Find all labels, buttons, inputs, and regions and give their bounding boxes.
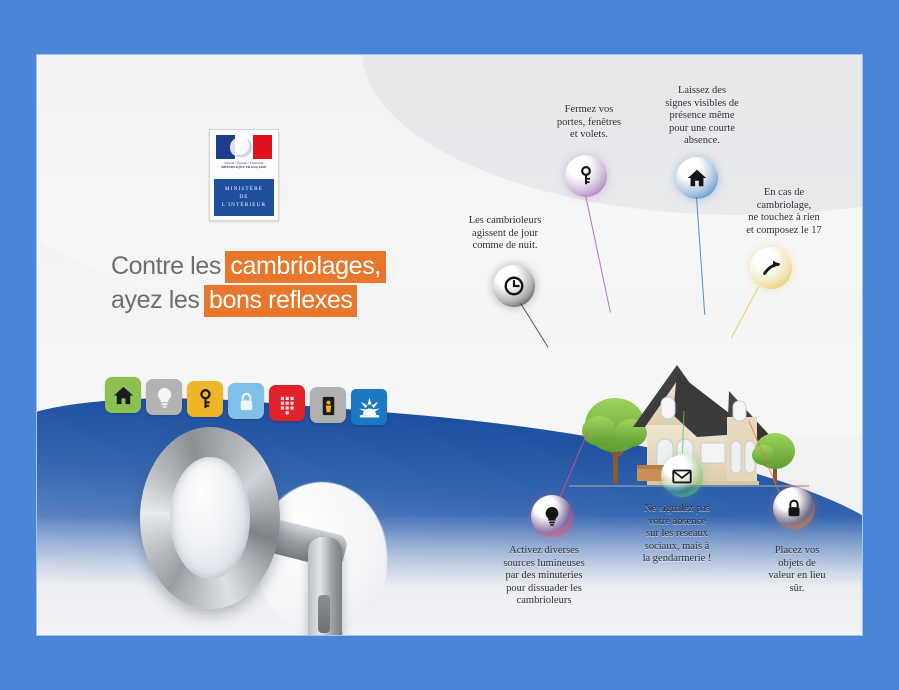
ministry-line-3: L'INTÉRIEUR <box>214 201 274 209</box>
padlock-icon <box>783 497 805 519</box>
callout-text-lock: Placez vosobjets devaleur en lieusûr. <box>727 545 862 595</box>
callout-text-phone: En cas decambriolage,ne touchez à rienet… <box>709 187 859 237</box>
key-photograph <box>132 427 382 635</box>
key-icon <box>575 165 597 187</box>
key-bow-ring <box>140 427 280 609</box>
callout-text-line: sources lumineuses <box>469 558 619 571</box>
padlock-tile <box>228 383 264 419</box>
callout-bubble-key[interactable] <box>565 155 607 197</box>
callout-text-line: Activez diverses <box>469 545 619 558</box>
callout-text-line: valeur en lieu <box>727 570 862 583</box>
callout-text-line: sûr. <box>727 583 862 596</box>
callout-text-line: présence même <box>627 110 777 123</box>
callout-bubble-lock[interactable] <box>773 487 815 529</box>
headline-line-2-highlight: bons reflexes <box>204 285 358 317</box>
keypad-tile <box>269 385 305 421</box>
security-icon-row <box>105 373 405 429</box>
callout-text-line: comme de nuit. <box>435 240 575 253</box>
callout-text-line: Les cambrioleurs <box>435 215 575 228</box>
callout-text-line: et composez le 17 <box>709 225 859 238</box>
callout-text-line: la gendarmerie ! <box>607 553 747 566</box>
ministry-line-1: MINISTÈRE <box>214 185 274 193</box>
keypad-icon <box>276 392 299 415</box>
headline-line-1-highlight: cambriolages, <box>225 251 385 283</box>
callout-bubble-clock[interactable] <box>493 265 535 307</box>
callout-text-line: ne touchez à rien <box>709 212 859 225</box>
callout-text-mail: Ne signalez pasvotre absencesur les rése… <box>607 503 747 566</box>
marianne-profile-icon <box>230 137 252 157</box>
sunrise-icon <box>358 396 381 419</box>
padlock-icon <box>235 390 258 413</box>
door-person-icon <box>317 394 340 417</box>
french-flag-icon <box>216 135 272 159</box>
ministry-logo: Liberté • Égalité • Fraternité RÉPUBLIQU… <box>209 129 279 221</box>
poster-headline: Contre les cambriolages, ayez les bons r… <box>111 251 386 319</box>
key-blade <box>308 537 342 635</box>
callout-text-line: signes visibles de <box>627 98 777 111</box>
house-icon <box>112 384 135 407</box>
headline-line-1-plain: Contre les <box>111 252 221 280</box>
sunrise-tile <box>351 389 387 425</box>
callout-text-line: Ne signalez pas <box>607 503 747 516</box>
callout-text-line: votre absence <box>607 516 747 529</box>
republic-line: RÉPUBLIQUE FRANÇAISE <box>216 165 272 169</box>
headline-line-2-plain: ayez les <box>111 286 200 314</box>
callout-text-bulb: Activez diversessources lumineusespar de… <box>469 545 619 608</box>
clock-icon <box>503 275 525 297</box>
callout-text-line: pour dissuader les <box>469 583 619 596</box>
ministry-line-2: DE <box>214 193 274 201</box>
callout-bubble-bulb[interactable] <box>531 495 573 537</box>
callout-text-line: Placez vos <box>727 545 862 558</box>
callout-text-line: agissent de jour <box>435 228 575 241</box>
headline-line-1: Contre les cambriolages, <box>111 251 386 285</box>
callout-text-line: sociaux, mais à <box>607 541 747 554</box>
door-tile <box>310 387 346 423</box>
key-tile <box>187 381 223 417</box>
republic-motto: Liberté • Égalité • Fraternité RÉPUBLIQU… <box>216 161 272 170</box>
callout-bubble-phone[interactable] <box>750 247 792 289</box>
callout-text-line: sur les réseaux <box>607 528 747 541</box>
lightbulb-icon <box>541 505 563 527</box>
marianne-emblem: Liberté • Égalité • Fraternité RÉPUBLIQU… <box>210 130 278 177</box>
bulb-tile <box>146 379 182 415</box>
phone-arrow-icon <box>760 257 782 279</box>
envelope-icon <box>671 465 693 487</box>
lightbulb-icon <box>153 386 176 409</box>
callout-text-line: absence. <box>627 135 777 148</box>
ministry-name-block: MINISTÈRE DE L'INTÉRIEUR <box>214 179 274 216</box>
house-tile <box>105 377 141 413</box>
callout-text-line: objets de <box>727 558 862 571</box>
callout-text-home: Laissez dessignes visibles deprésence mê… <box>627 85 777 148</box>
callout-text-line: pour une courte <box>627 123 777 136</box>
headline-line-2: ayez les bons reflexes <box>111 285 386 319</box>
callout-text-line: cambrioleurs <box>469 595 619 608</box>
callout-text-clock: Les cambrioleursagissent de jourcomme de… <box>435 215 575 253</box>
house-icon <box>686 167 708 189</box>
callout-text-line: cambriolage, <box>709 200 859 213</box>
callout-bubble-mail[interactable] <box>661 455 703 497</box>
poster-stage: Liberté • Égalité • Fraternité RÉPUBLIQU… <box>0 0 899 690</box>
poster-panel: Liberté • Égalité • Fraternité RÉPUBLIQU… <box>37 55 862 635</box>
key-icon <box>194 388 217 411</box>
callout-text-line: Laissez des <box>627 85 777 98</box>
callout-text-line: par des minuteries <box>469 570 619 583</box>
callout-text-line: En cas de <box>709 187 859 200</box>
